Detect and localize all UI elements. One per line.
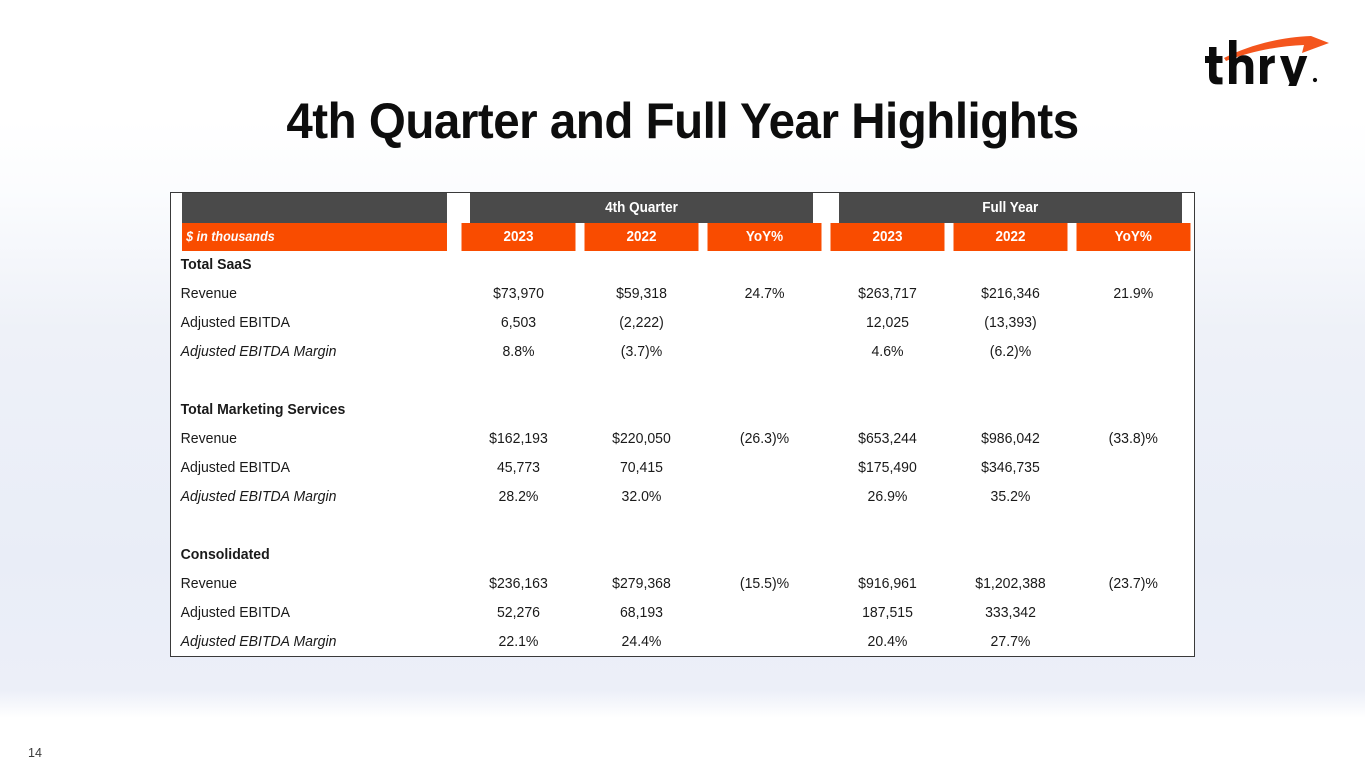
table-row: Revenue$162,193$220,050(26.3)%$653,244$9… xyxy=(171,425,1195,454)
row-value xyxy=(704,483,823,512)
row-value: 20.4% xyxy=(827,628,946,657)
row-value xyxy=(1073,454,1192,483)
table-row: Adjusted EBITDA Margin28.2%32.0%26.9%35.… xyxy=(171,483,1195,512)
row-value xyxy=(704,338,823,367)
row-value: 35.2% xyxy=(950,483,1069,512)
col-header-q4-2022: 2022 xyxy=(584,223,698,251)
row-value xyxy=(1073,628,1192,657)
row-value: $916,961 xyxy=(827,570,946,599)
spacer-cell xyxy=(704,512,823,541)
spacer-cell xyxy=(581,512,700,541)
row-value: 333,342 xyxy=(950,599,1069,628)
row-value: (2,222) xyxy=(581,309,700,338)
row-label: Adjusted EBITDA xyxy=(175,309,452,338)
section-title-spacer-cell xyxy=(458,541,577,570)
section-title-spacer-cell xyxy=(950,396,1069,425)
table-row: Adjusted EBITDA Margin8.8%(3.7)%4.6%(6.2… xyxy=(171,338,1195,367)
col-header-fy-2022: 2022 xyxy=(953,223,1067,251)
table-spacer-row xyxy=(171,367,1195,396)
row-value: $162,193 xyxy=(458,425,577,454)
col-header-q4-yoy: YoY% xyxy=(707,223,821,251)
row-label: Adjusted EBITDA xyxy=(175,599,452,628)
table-row: Adjusted EBITDA52,27668,193187,515333,34… xyxy=(171,599,1195,628)
section-title-spacer-cell xyxy=(827,396,946,425)
row-value: $216,346 xyxy=(950,280,1069,309)
spacer-cell xyxy=(704,367,823,396)
row-value: 28.2% xyxy=(458,483,577,512)
section-title-spacer-cell xyxy=(1073,541,1192,570)
row-value: 22.1% xyxy=(458,628,577,657)
group-header-blank xyxy=(181,193,447,223)
table-body: Total SaaSRevenue$73,970$59,31824.7%$263… xyxy=(171,251,1195,657)
units-label: $ in thousands xyxy=(181,223,447,251)
thryv-logo xyxy=(1203,34,1329,86)
row-value: (13,393) xyxy=(950,309,1069,338)
row-label: Adjusted EBITDA Margin xyxy=(175,483,452,512)
row-value: (3.7)% xyxy=(581,338,700,367)
row-value: 21.9% xyxy=(1073,280,1192,309)
row-value: 4.6% xyxy=(827,338,946,367)
group-header-full-year: Full Year xyxy=(838,193,1181,223)
row-value xyxy=(1073,338,1192,367)
section-title-spacer-cell xyxy=(1073,396,1192,425)
row-value: 68,193 xyxy=(581,599,700,628)
row-value: (26.3)% xyxy=(704,425,823,454)
spacer-cell xyxy=(950,512,1069,541)
row-value: $653,244 xyxy=(827,425,946,454)
row-value: $175,490 xyxy=(827,454,946,483)
row-value: 45,773 xyxy=(458,454,577,483)
spacer-cell xyxy=(1073,512,1192,541)
table-row: Adjusted EBITDA Margin22.1%24.4%20.4%27.… xyxy=(171,628,1195,657)
spacer-cell xyxy=(581,367,700,396)
row-label: Adjusted EBITDA Margin xyxy=(175,338,452,367)
table-row: Adjusted EBITDA45,77370,415$175,490$346,… xyxy=(171,454,1195,483)
row-value: $59,318 xyxy=(581,280,700,309)
spacer-cell xyxy=(458,512,577,541)
section-title-spacer-cell xyxy=(581,251,700,280)
row-value xyxy=(1073,599,1192,628)
row-value xyxy=(704,454,823,483)
row-value: 27.7% xyxy=(950,628,1069,657)
row-value: 24.4% xyxy=(581,628,700,657)
spacer-cell xyxy=(1073,367,1192,396)
spacer-cell xyxy=(175,512,452,541)
row-value: $220,050 xyxy=(581,425,700,454)
row-value: 26.9% xyxy=(827,483,946,512)
spacer-cell xyxy=(458,367,577,396)
section-title-spacer-cell xyxy=(1073,251,1192,280)
col-header-q4-2023: 2023 xyxy=(461,223,575,251)
section-title: Total SaaS xyxy=(175,251,452,280)
col-header-fy-yoy: YoY% xyxy=(1076,223,1190,251)
table-spacer-row xyxy=(171,512,1195,541)
section-title-spacer-cell xyxy=(950,251,1069,280)
spacer-cell xyxy=(827,512,946,541)
section-title-spacer-cell xyxy=(458,251,577,280)
page-number: 14 xyxy=(28,746,42,760)
row-label: Revenue xyxy=(175,570,452,599)
section-title-spacer-cell xyxy=(827,541,946,570)
row-value: $986,042 xyxy=(950,425,1069,454)
row-value: $346,735 xyxy=(950,454,1069,483)
row-label: Revenue xyxy=(175,280,452,309)
table-row: Revenue$73,970$59,31824.7%$263,717$216,3… xyxy=(171,280,1195,309)
row-label: Revenue xyxy=(175,425,452,454)
section-title-spacer-cell xyxy=(704,541,823,570)
spacer-cell xyxy=(950,367,1069,396)
row-value: (6.2)% xyxy=(950,338,1069,367)
spacer-cell xyxy=(827,367,946,396)
table-group-header-row: 4th Quarter Full Year xyxy=(171,193,1195,223)
row-value xyxy=(704,628,823,657)
row-value: (15.5)% xyxy=(704,570,823,599)
table-row: Adjusted EBITDA6,503(2,222)12,025(13,393… xyxy=(171,309,1195,338)
table-row: Revenue$236,163$279,368(15.5)%$916,961$1… xyxy=(171,570,1195,599)
row-value: $1,202,388 xyxy=(950,570,1069,599)
row-value: $73,970 xyxy=(458,280,577,309)
section-title-spacer-cell xyxy=(827,251,946,280)
spacer-cell xyxy=(175,367,452,396)
row-value: 32.0% xyxy=(581,483,700,512)
row-value: $263,717 xyxy=(827,280,946,309)
section-title: Total Marketing Services xyxy=(175,396,452,425)
row-label: Adjusted EBITDA xyxy=(175,454,452,483)
table-section-row: Total SaaS xyxy=(171,251,1195,280)
section-title-spacer-cell xyxy=(581,396,700,425)
col-header-fy-2023: 2023 xyxy=(830,223,944,251)
section-title-spacer-cell xyxy=(458,396,577,425)
row-value: 6,503 xyxy=(458,309,577,338)
row-value: 52,276 xyxy=(458,599,577,628)
table-section-row: Consolidated xyxy=(171,541,1195,570)
row-value xyxy=(704,309,823,338)
row-label: Adjusted EBITDA Margin xyxy=(175,628,452,657)
row-value xyxy=(1073,483,1192,512)
row-value: (23.7)% xyxy=(1073,570,1192,599)
group-header-4th-quarter: 4th Quarter xyxy=(469,193,812,223)
row-value: $279,368 xyxy=(581,570,700,599)
table-section-row: Total Marketing Services xyxy=(171,396,1195,425)
row-value: 70,415 xyxy=(581,454,700,483)
row-value: $236,163 xyxy=(458,570,577,599)
financial-highlights-table: 4th Quarter Full Year $ in thousands 202… xyxy=(170,192,1195,657)
row-value: (33.8)% xyxy=(1073,425,1192,454)
row-value: 12,025 xyxy=(827,309,946,338)
section-title-spacer-cell xyxy=(704,396,823,425)
section-title-spacer-cell xyxy=(704,251,823,280)
row-value xyxy=(1073,309,1192,338)
row-value xyxy=(704,599,823,628)
row-value: 8.8% xyxy=(458,338,577,367)
row-value: 24.7% xyxy=(704,280,823,309)
section-title: Consolidated xyxy=(175,541,452,570)
trademark-dot-icon xyxy=(1313,78,1317,82)
row-value: 187,515 xyxy=(827,599,946,628)
section-title-spacer-cell xyxy=(950,541,1069,570)
page-title: 4th Quarter and Full Year Highlights xyxy=(34,92,1331,150)
section-title-spacer-cell xyxy=(581,541,700,570)
table-column-header-row: $ in thousands 2023 2022 YoY% 2023 2022 … xyxy=(171,223,1195,251)
